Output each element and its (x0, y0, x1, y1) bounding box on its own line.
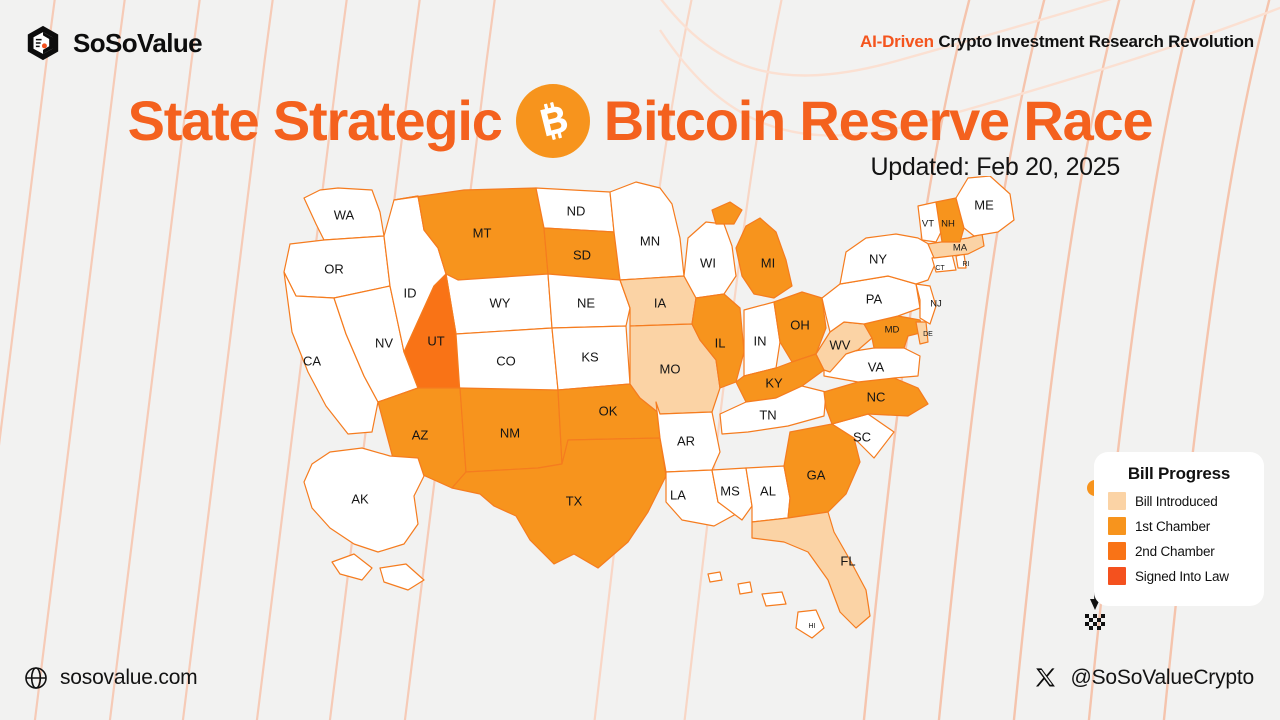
legend-title: Bill Progress (1108, 464, 1250, 484)
brand-logo[interactable]: SoSoValue (24, 24, 202, 62)
state-NY[interactable] (840, 234, 936, 284)
state-GA[interactable] (784, 424, 860, 518)
tagline: AI-Driven Crypto Investment Research Rev… (860, 32, 1254, 52)
state-WI[interactable] (684, 222, 736, 298)
state-WY[interactable] (446, 274, 552, 334)
tagline-plain: Crypto Investment Research Revolution (934, 32, 1254, 51)
tagline-accent: AI-Driven (860, 32, 934, 51)
state-SD[interactable] (544, 228, 620, 280)
state-IN[interactable] (744, 302, 780, 376)
state-HI[interactable] (708, 572, 824, 638)
globe-icon (24, 666, 48, 690)
state-ND[interactable] (536, 188, 614, 232)
legend-label: Bill Introduced (1135, 494, 1218, 509)
state-ME[interactable] (956, 176, 1014, 236)
legend-label: 2nd Chamber (1135, 544, 1215, 559)
bitcoin-icon (516, 84, 590, 158)
legend-item[interactable]: 1st Chamber (1108, 517, 1250, 535)
state-MN[interactable] (610, 182, 684, 280)
footer-website[interactable]: sosovalue.com (24, 666, 197, 690)
state-OR[interactable] (284, 236, 390, 298)
legend-card: Bill Progress Bill Introduced 1st Chambe… (1094, 452, 1264, 606)
social-label: @SoSoValueCrypto (1071, 666, 1255, 690)
state-AL[interactable] (746, 466, 790, 522)
state-IA[interactable] (620, 276, 696, 326)
legend-swatch (1108, 517, 1126, 535)
brand-name: SoSoValue (73, 28, 202, 59)
state-NM[interactable] (460, 388, 562, 472)
legend-swatch (1108, 492, 1126, 510)
state-WA[interactable] (304, 188, 384, 240)
state-AK[interactable] (304, 448, 424, 590)
legend-swatch (1108, 567, 1126, 585)
x-twitter-icon (1034, 666, 1058, 690)
legend-label: 1st Chamber (1135, 519, 1210, 534)
legend-item[interactable]: Bill Introduced (1108, 492, 1250, 510)
page-title: State Strategic Bitcoin Reserve Race (0, 84, 1280, 158)
sosovalue-cube-icon (24, 24, 62, 62)
state-NC[interactable] (824, 378, 928, 424)
state-CO[interactable] (456, 328, 558, 394)
legend-item[interactable]: 2nd Chamber (1108, 542, 1250, 560)
state-DE[interactable] (916, 322, 928, 344)
legend-label: Signed Into Law (1135, 569, 1229, 584)
footer-social[interactable]: @SoSoValueCrypto (1034, 666, 1255, 690)
state-KS[interactable] (552, 326, 630, 390)
legend-item[interactable]: Signed Into Law (1108, 567, 1250, 585)
website-label: sosovalue.com (60, 666, 197, 690)
us-choropleth-map: WA OR CA NV ID MT WY UT CO AZ NM ND SD N… (268, 176, 1028, 656)
state-RI[interactable] (956, 254, 966, 268)
state-NE[interactable] (548, 274, 630, 328)
checkered-flag-icon (1085, 614, 1105, 630)
title-before: State Strategic (128, 93, 502, 149)
title-after: Bitcoin Reserve Race (604, 93, 1153, 149)
legend-swatch (1108, 542, 1126, 560)
